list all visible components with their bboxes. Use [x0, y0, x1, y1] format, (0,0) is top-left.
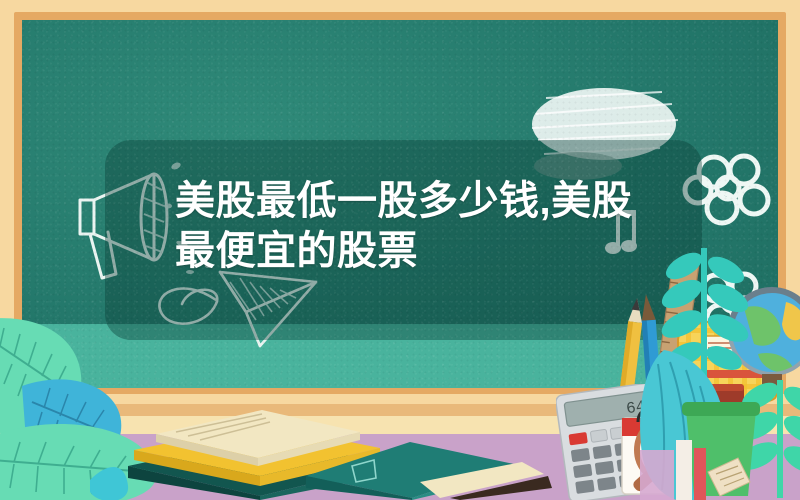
- banner-canvas: 美股最低一股多少钱,美股最便宜的股票: [0, 0, 800, 500]
- page-title: 美股最低一股多少钱,美股最便宜的股票: [175, 176, 645, 276]
- title-line-2: 最便宜的股票: [175, 229, 418, 273]
- desk-accent-shapes: [640, 440, 730, 500]
- title-line-1: 美股最低一股多少钱,美股: [175, 179, 632, 223]
- book-stack-secondary: [300, 436, 560, 500]
